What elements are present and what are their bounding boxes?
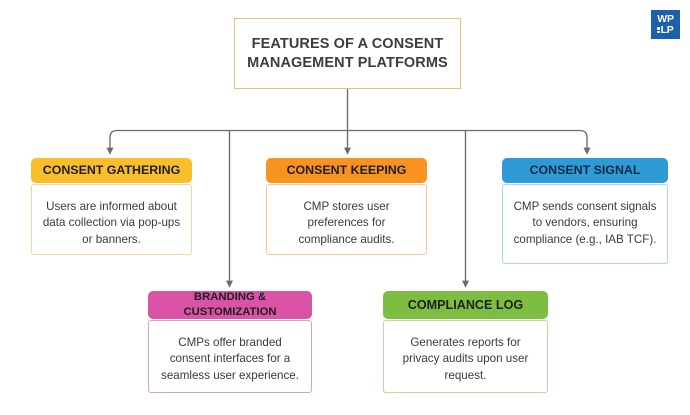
colon-dots-icon [657,27,659,33]
logo-line-top: WP [657,14,674,25]
node-compliance-log[interactable]: COMPLIANCE LOG Generates reports for pri… [383,291,548,393]
node-header-consent-signal: CONSENT SIGNAL [502,158,668,183]
node-consent-keeping[interactable]: CONSENT KEEPING CMP stores user preferen… [266,158,427,255]
page-title: FEATURES OF A CONSENT MANAGEMENT PLATFOR… [235,35,460,72]
diagram-canvas: FEATURES OF A CONSENT MANAGEMENT PLATFOR… [0,0,690,415]
node-branding-customization[interactable]: BRANDING & CUSTOMIZATION CMPs offer bran… [148,291,312,393]
node-consent-gathering[interactable]: CONSENT GATHERING Users are informed abo… [31,158,192,255]
node-body-consent-gathering: Users are informed about data collection… [31,184,192,255]
node-header-consent-gathering: CONSENT GATHERING [31,158,192,183]
node-header-branding-customization: BRANDING & CUSTOMIZATION [148,291,312,319]
node-header-consent-keeping: CONSENT KEEPING [266,158,427,183]
node-body-branding-customization: CMPs offer branded consent interfaces fo… [148,320,312,393]
node-consent-signal[interactable]: CONSENT SIGNAL CMP sends consent signals… [502,158,668,264]
diagram-title-box: FEATURES OF A CONSENT MANAGEMENT PLATFOR… [234,18,461,89]
logo-line-bottom: LP [657,25,673,36]
node-body-compliance-log: Generates reports for privacy audits upo… [383,320,548,393]
logo-line-bottom-text: LP [661,25,674,36]
node-body-consent-signal: CMP sends consent signals to vendors, en… [502,184,668,264]
node-header-compliance-log: COMPLIANCE LOG [383,291,548,319]
node-body-consent-keeping: CMP stores user preferences for complian… [266,184,427,255]
wplp-logo[interactable]: WP LP [651,10,680,39]
